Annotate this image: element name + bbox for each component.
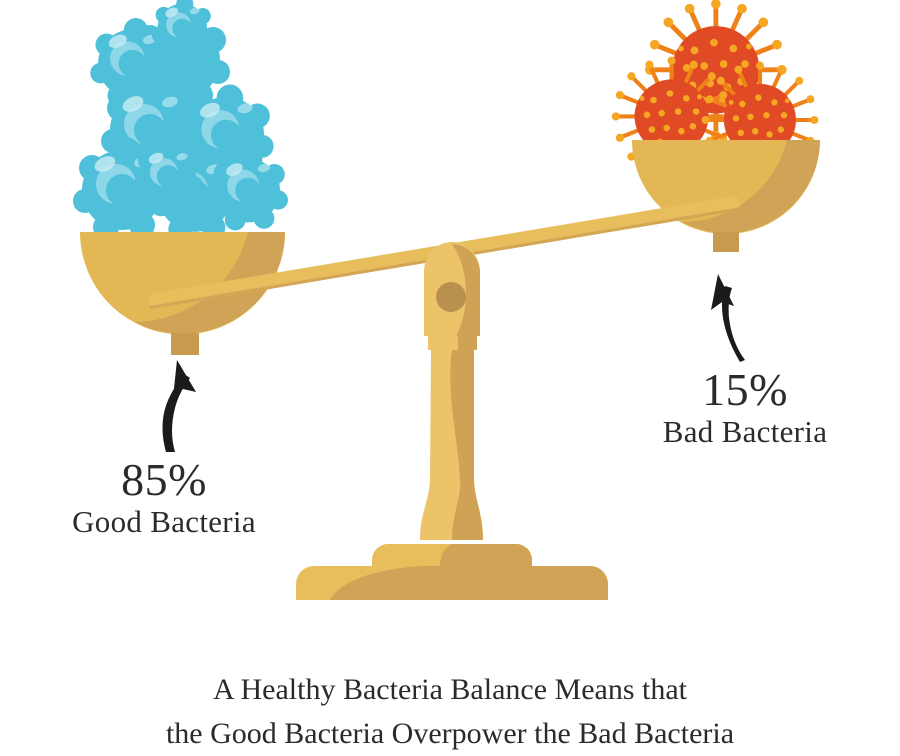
caption-line-2: the Good Bacteria Overpower the Bad Bact… — [0, 712, 900, 756]
arrow-to-good-pan-icon — [163, 360, 196, 452]
good-bacteria-label-group: 85% Good Bacteria — [34, 455, 294, 538]
good-bacteria-name: Good Bacteria — [34, 505, 294, 538]
bad-bacteria-name: Bad Bacteria — [620, 415, 870, 448]
arrow-to-bad-pan-icon — [711, 274, 745, 362]
good-bacteria-cluster-icon — [73, 0, 288, 241]
scale-column — [296, 242, 608, 600]
figure-caption: A Healthy Bacteria Balance Means that th… — [0, 668, 900, 756]
infographic-canvas: 85% Good Bacteria 15% Bad Bacteria A Hea… — [0, 0, 900, 754]
caption-line-1: A Healthy Bacteria Balance Means that — [0, 668, 900, 712]
bad-bacteria-percent: 15% — [620, 365, 870, 415]
right-pan-bowl — [632, 140, 820, 252]
good-bacteria-percent: 85% — [34, 455, 294, 505]
bad-bacteria-label-group: 15% Bad Bacteria — [620, 365, 870, 448]
